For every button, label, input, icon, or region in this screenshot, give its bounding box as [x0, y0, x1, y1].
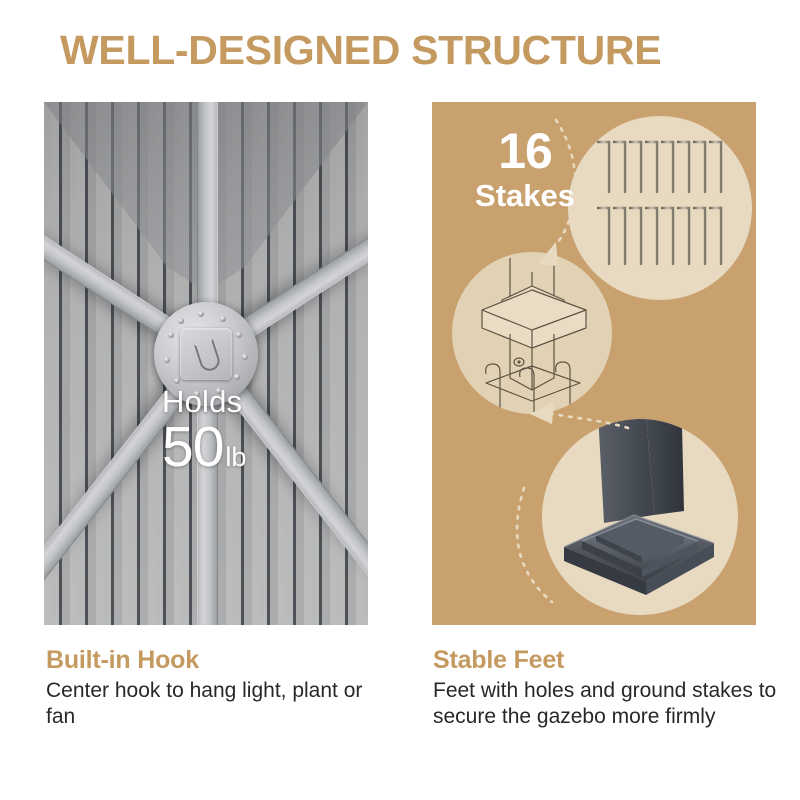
- right-image-panel: 16 Stakes: [432, 102, 756, 625]
- left-image-panel: Holds 50 lb: [44, 102, 368, 625]
- caption-body: Center hook to hang light, plant or fan: [46, 678, 396, 730]
- caption-title: Stable Feet: [433, 645, 783, 675]
- holds-number: 50: [162, 419, 223, 475]
- post-foot-illustration: [542, 419, 738, 615]
- caption-title: Built-in Hook: [46, 645, 396, 675]
- page-title: WELL-DESIGNED STRUCTURE: [60, 24, 760, 76]
- holds-capacity-overlay: Holds 50 lb: [162, 385, 246, 485]
- holds-unit: lb: [225, 429, 246, 485]
- caption-stable-feet: Stable Feet Feet with holes and ground s…: [433, 645, 783, 730]
- stakes-count-overlay: 16 Stakes: [460, 124, 590, 214]
- gazebo-roof-photo: [44, 102, 368, 625]
- post-base-line-drawing: [452, 252, 612, 414]
- stakes-count: 16: [460, 124, 590, 178]
- stakes-label: Stakes: [460, 178, 590, 214]
- caption-body: Feet with holes and ground stakes to sec…: [433, 678, 783, 730]
- caption-built-in-hook: Built-in Hook Center hook to hang light,…: [46, 645, 396, 730]
- post-base-diagram-circle: [452, 252, 612, 414]
- post-foot-photo-circle: [542, 419, 738, 615]
- holds-word: Holds: [162, 385, 246, 419]
- feature-infographic: WELL-DESIGNED STRUCTURE: [0, 0, 800, 800]
